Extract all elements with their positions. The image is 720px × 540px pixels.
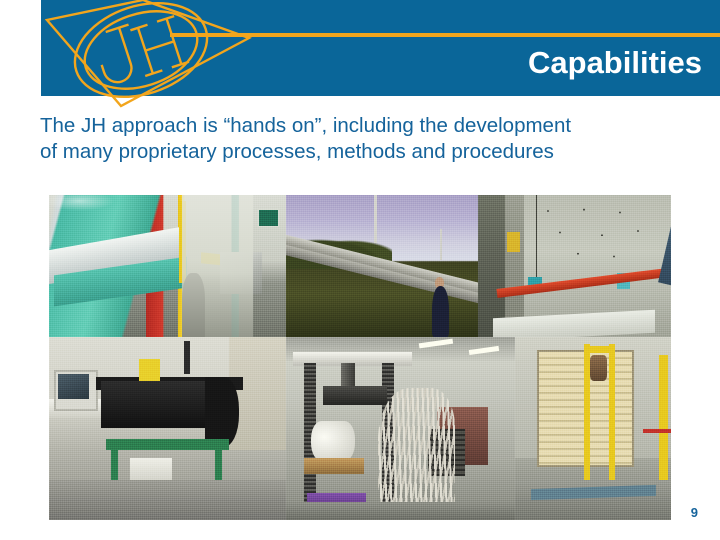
photo-composite-wing-assembly-fixture: [49, 195, 286, 337]
photo-collage: [49, 195, 671, 520]
photo-outdoor-beam-structural-test: [286, 195, 478, 337]
slide-canvas: Capabilities The JH approach is “hands o…: [0, 0, 720, 540]
body-line-2: of many proprietary processes, methods a…: [40, 139, 690, 165]
body-line-1: The JH approach is “hands on”, including…: [40, 113, 690, 139]
page-number: 9: [691, 506, 698, 520]
photo-yellow-loading-frame-panel-test: [515, 337, 671, 520]
photo-coordinate-measuring-machine-lab: [49, 337, 286, 520]
page-title: Capabilities: [272, 46, 702, 80]
photo-universal-test-frame-instrumentation: [286, 337, 515, 520]
jh-logo-icon: [33, 0, 258, 108]
body-paragraph: The JH approach is “hands on”, including…: [40, 113, 690, 165]
photo-building-facade-red-beam-crane: [478, 195, 671, 337]
